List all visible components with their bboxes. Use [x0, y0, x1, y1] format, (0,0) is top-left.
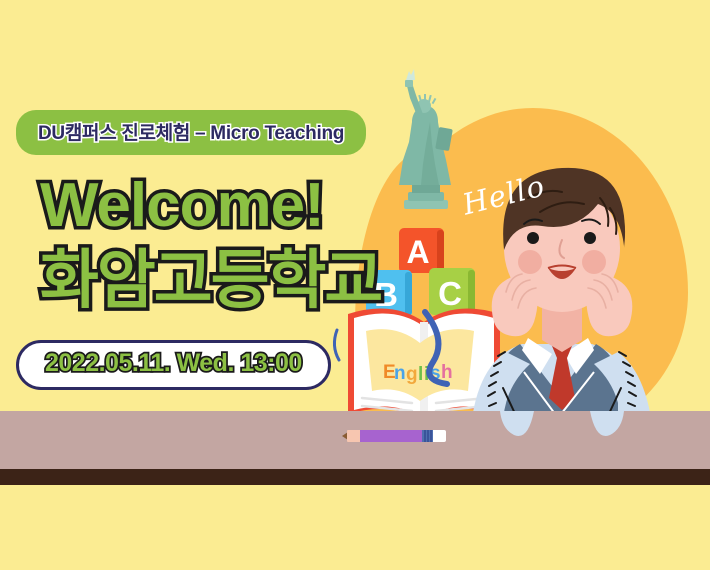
- pencil-body: [360, 430, 422, 442]
- page-title-welcome: Welcome!: [40, 176, 324, 237]
- pencil-eraser: [433, 430, 446, 442]
- schedule-badge: 2022.05.11. Wed. 13:00: [16, 340, 331, 390]
- pencil-ferrule: [422, 430, 433, 442]
- page-title-school: 화암고등학교: [40, 248, 381, 312]
- program-badge: DU캠퍼스 진로체험 – Micro Teaching: [16, 110, 366, 155]
- poster-canvas: A B C: [0, 0, 710, 570]
- pencil-icon: [342, 429, 446, 443]
- svg-text:l: l: [418, 364, 423, 385]
- statue-of-liberty-icon: [399, 69, 453, 209]
- desk-edge: [0, 469, 710, 485]
- svg-text:n: n: [394, 363, 406, 384]
- svg-text:A: A: [406, 234, 429, 270]
- pencil-wood: [347, 430, 361, 442]
- alphabet-block-a: A: [399, 228, 444, 273]
- program-badge-label: DU캠퍼스 진로체험 – Micro Teaching: [38, 118, 344, 145]
- schedule-datetime: 2022.05.11. Wed. 13:00: [45, 349, 302, 378]
- svg-text:g: g: [406, 364, 418, 385]
- alphabet-block-c: C: [429, 268, 475, 315]
- svg-text:h: h: [441, 362, 453, 383]
- svg-text:C: C: [438, 275, 462, 312]
